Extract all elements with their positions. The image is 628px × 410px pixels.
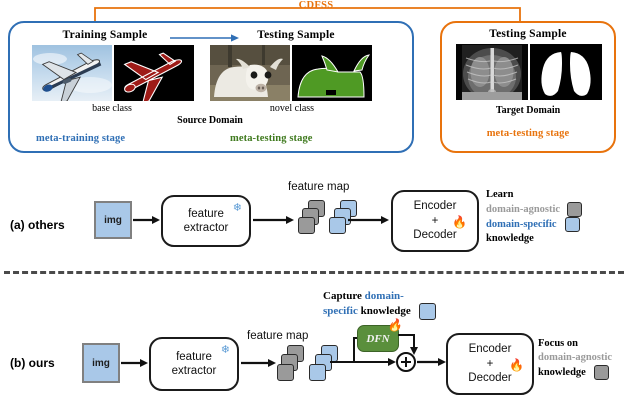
source-domain-caption: Source Domain [135, 115, 285, 126]
meta-testing-stage-label-target: meta-testing stage [442, 128, 614, 139]
row-b-arrow-extractor-to-featuremap [241, 357, 277, 369]
feature-tile-blue [329, 217, 346, 234]
airplane-photo-thumbnail [32, 45, 112, 101]
row-b-legend-line1: Focus on [538, 337, 612, 351]
row-b-legend-agnostic: domain-agnostic [538, 351, 612, 365]
training-sample-title: Training Sample [30, 29, 180, 41]
row-a-legend-line1: Learn [486, 188, 582, 202]
testing-sample-title-target: Testing Sample [442, 28, 614, 40]
target-domain-caption: Target Domain [442, 105, 614, 116]
row-a-encoder-decoder-box: Encoder + Decoder 🔥 [391, 190, 479, 252]
capture-knowledge-word: knowledge [358, 305, 411, 317]
row-a-legend-line4: knowledge [486, 232, 582, 246]
feature-tile-gray [277, 364, 294, 381]
capture-domain-word: domain- [365, 290, 404, 302]
feature-tile-blue [309, 364, 326, 381]
row-b-img-label: img [92, 358, 110, 369]
row-b-label: (b) ours [10, 356, 55, 370]
flame-icon: 🔥 [452, 216, 467, 228]
row-a-arrow-img-to-extractor [133, 214, 161, 226]
cdfss-label: CDFSS [268, 0, 364, 11]
row-b-feature-extractor-box: feature extractor ❄ [149, 337, 239, 391]
row-a-arrow-extractor-to-featuremap [253, 214, 295, 226]
section-divider [4, 271, 624, 274]
row-a-extractor-line1: feature [188, 207, 224, 221]
row-a-legend-agnostic: domain-agnostic [486, 204, 560, 215]
row-b-arrow-img-to-extractor [121, 357, 149, 369]
row-a-img-label: img [104, 215, 122, 226]
row-a-label: (a) others [10, 218, 65, 232]
lung-mask-thumbnail [530, 44, 602, 100]
row-b-legend-line3: knowledge [538, 367, 586, 378]
row-a-legend-specific: domain-specific [486, 219, 557, 230]
row-b-legend: Focus on domain-agnostic knowledge [538, 337, 612, 380]
row-b-capture-caption: Capture domain- specific knowledge [323, 289, 436, 320]
feature-tile-gray [298, 217, 315, 234]
row-b-plus-label: + [487, 357, 494, 371]
novel-class-caption: novel class [222, 103, 362, 114]
testing-sample-title: Testing Sample [226, 29, 366, 41]
chest-xray-thumbnail [456, 44, 528, 100]
row-b-encoder-decoder-box: Encoder + Decoder 🔥 [446, 333, 534, 395]
target-domain-panel: Testing Sample Target D [440, 21, 616, 153]
capture-specific-word: specific [323, 305, 358, 317]
meta-testing-stage-label-source: meta-testing stage [230, 133, 313, 144]
row-b-decoder-label: Decoder [468, 371, 511, 385]
meta-training-stage-label: meta-training stage [36, 133, 125, 144]
row-b-extractor-line2: extractor [172, 364, 217, 378]
cow-mask-thumbnail [292, 45, 372, 101]
row-a-arrow-featuremap-to-encoder [348, 214, 390, 226]
capture-word: Capture [323, 290, 365, 302]
snowflake-icon: ❄ [221, 345, 230, 356]
row-a-plus-label: + [432, 214, 439, 228]
flame-icon: 🔥 [509, 359, 524, 371]
legend-swatch-gray [567, 202, 582, 217]
legend-swatch-blue [419, 303, 436, 320]
row-b-encoder-label: Encoder [469, 342, 512, 356]
row-b-feature-map-label: feature map [247, 330, 308, 342]
sum-operator [396, 352, 416, 372]
row-a-decoder-label: Decoder [413, 228, 456, 242]
row-a-legend: Learn domain-agnostic domain-specific kn… [486, 188, 582, 246]
row-a-feature-map-label: feature map [288, 181, 349, 193]
airplane-mask-thumbnail [114, 45, 194, 101]
row-b-arrow-sum-to-encoder [417, 356, 447, 368]
row-a-feature-extractor-box: feature extractor ❄ [161, 195, 251, 247]
legend-swatch-gray [594, 365, 609, 380]
row-b-extractor-line1: feature [176, 350, 212, 364]
row-a-encoder-label: Encoder [414, 199, 457, 213]
row-b-img-box: img [82, 343, 120, 383]
snowflake-icon: ❄ [233, 203, 242, 214]
row-a-extractor-line2: extractor [184, 221, 229, 235]
dfn-label: DFN [366, 333, 389, 345]
cow-photo-thumbnail [210, 45, 290, 101]
base-class-caption: base class [42, 103, 182, 114]
row-a-img-box: img [94, 201, 132, 239]
source-domain-panel: Training Sample Testing Sample [8, 21, 414, 153]
legend-swatch-blue [565, 217, 580, 232]
dfn-module-box: DFN 🔥 [357, 325, 399, 352]
